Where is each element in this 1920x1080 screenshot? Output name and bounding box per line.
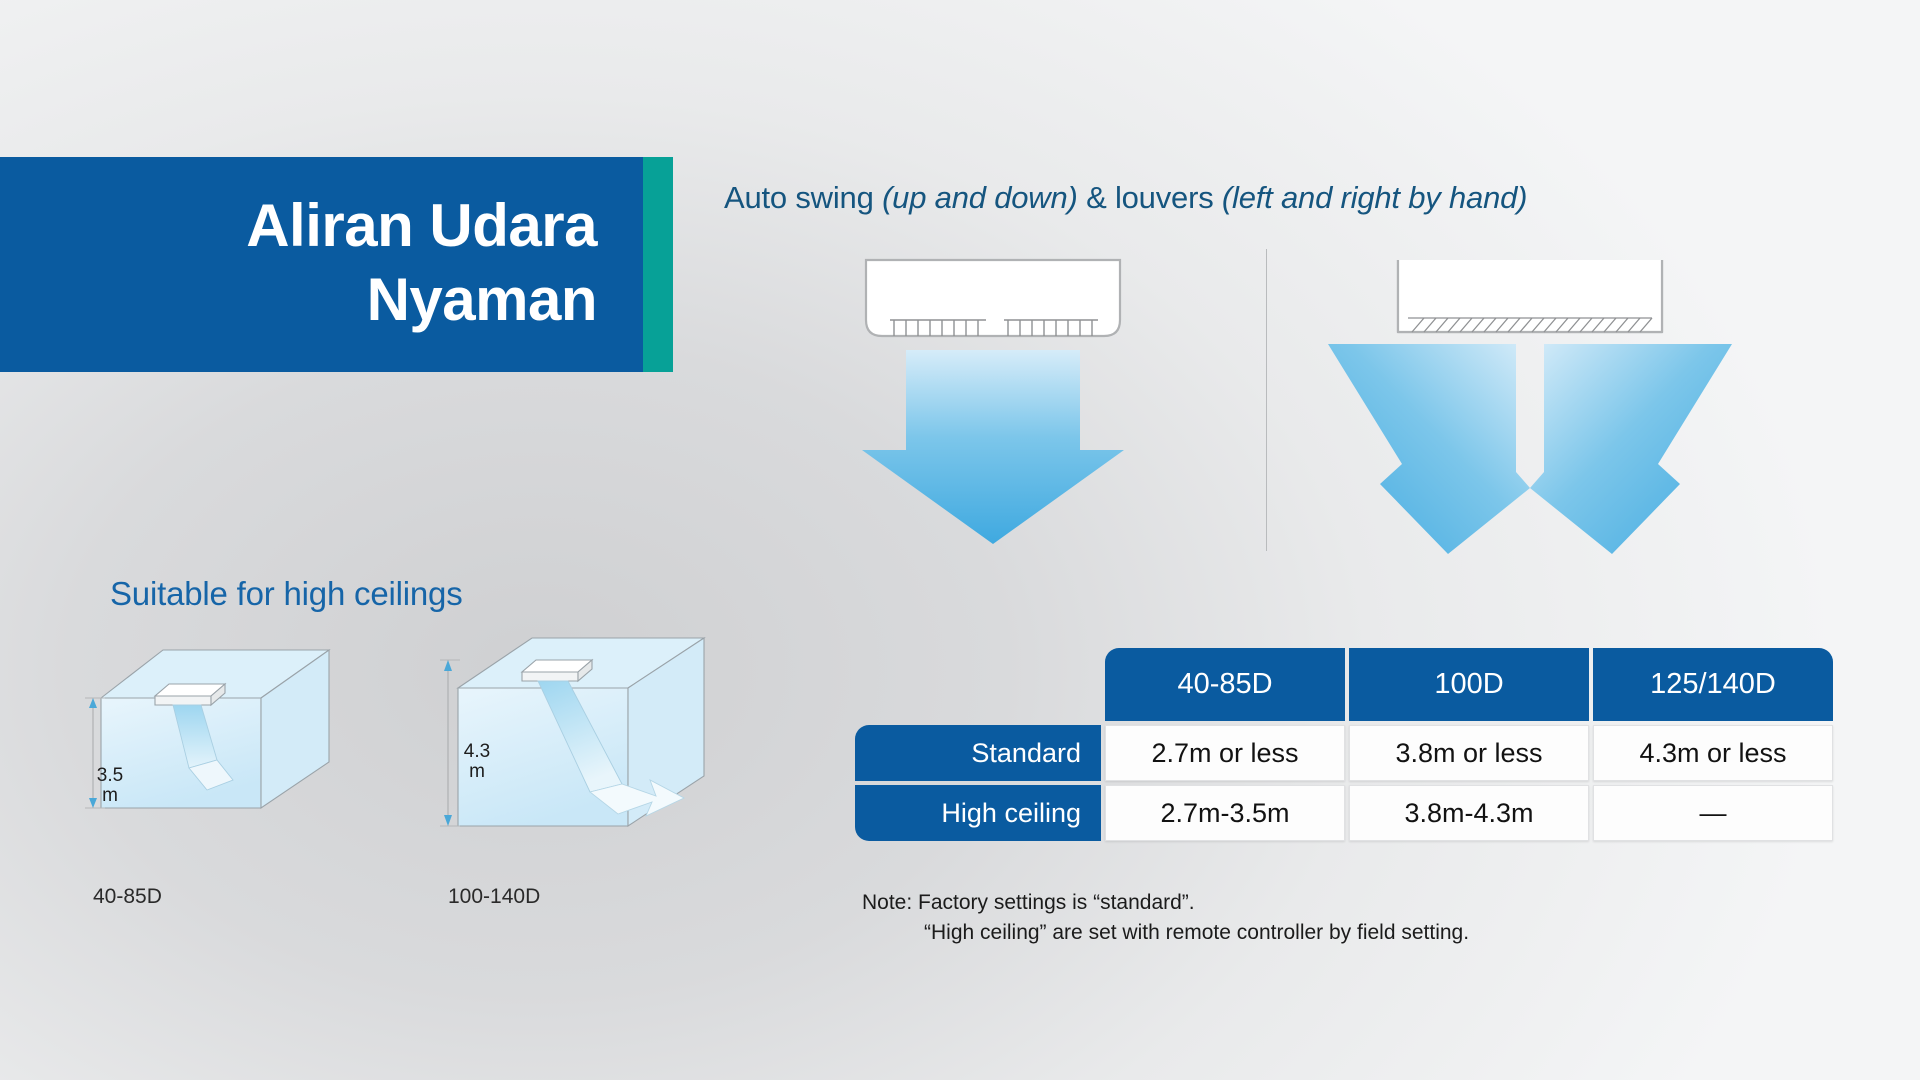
- table-corner-cell: [855, 648, 1101, 721]
- room-b-dimension-value: 4.3: [464, 741, 490, 762]
- swing-header: Auto swing (up and down) & louvers (left…: [724, 180, 1527, 216]
- ceiling-unit: [522, 660, 592, 681]
- title-line-1: Aliran Udara: [246, 189, 597, 263]
- right-arrow-icon: [1530, 344, 1732, 554]
- swing-header-part2: & louvers: [1078, 180, 1222, 215]
- room-b-dimension-label: 4.3 m: [455, 742, 499, 782]
- cell-high-ceiling-125-140d: —: [1593, 785, 1833, 841]
- room-diagram-40-85d: [85, 640, 385, 875]
- ceiling-height-table: 40-85D 100D 125/140D Standard 2.7m or le…: [855, 648, 1855, 841]
- slide-canvas: Aliran Udara Nyaman Auto swing (up and d…: [0, 0, 1920, 1080]
- cell-high-ceiling-40-85d: 2.7m-3.5m: [1105, 785, 1345, 841]
- title-banner: Aliran Udara Nyaman: [0, 157, 643, 372]
- airflow-split-panel: [1320, 258, 1740, 563]
- swing-header-italic1: (up and down): [882, 180, 1078, 215]
- room-b-dimension-unit: m: [469, 761, 485, 782]
- vertical-divider: [1266, 249, 1267, 551]
- room-a-dimension-unit: m: [102, 785, 118, 806]
- table-header-100d: 100D: [1349, 648, 1589, 721]
- row-label-high-ceiling: High ceiling: [855, 785, 1101, 841]
- room-a-dimension-value: 3.5: [97, 765, 123, 786]
- cell-standard-40-85d: 2.7m or less: [1105, 725, 1345, 781]
- swing-header-part1: Auto swing: [724, 180, 882, 215]
- table-row: Standard 2.7m or less 3.8m or less 4.3m …: [855, 725, 1855, 781]
- row-label-standard: Standard: [855, 725, 1101, 781]
- table-row: High ceiling 2.7m-3.5m 3.8m-4.3m —: [855, 785, 1855, 841]
- left-arrow-icon: [1328, 344, 1530, 554]
- room-b-caption: 100-140D: [448, 885, 540, 909]
- down-arrow-icon: [862, 350, 1124, 544]
- ceiling-unit: [155, 684, 225, 705]
- swing-header-italic2: (left and right by hand): [1222, 180, 1527, 215]
- title-accent-bar: [643, 157, 673, 372]
- note-line-2: “High ceiling” are set with remote contr…: [862, 918, 1469, 948]
- note-line-1: Note: Factory settings is “standard”.: [862, 888, 1469, 918]
- cell-standard-125-140d: 4.3m or less: [1593, 725, 1833, 781]
- table-header-125-140d: 125/140D: [1593, 648, 1833, 721]
- room-a-caption: 40-85D: [93, 885, 162, 909]
- cell-standard-100d: 3.8m or less: [1349, 725, 1589, 781]
- indoor-unit-body: [866, 260, 1120, 336]
- table-header-40-85d: 40-85D: [1105, 648, 1345, 721]
- cell-high-ceiling-100d: 3.8m-4.3m: [1349, 785, 1589, 841]
- table-header-row: 40-85D 100D 125/140D: [855, 648, 1855, 721]
- airflow-down-panel: [860, 258, 1200, 553]
- table-note: Note: Factory settings is “standard”. “H…: [862, 888, 1469, 949]
- title-block: Aliran Udara Nyaman: [0, 157, 673, 372]
- high-ceilings-subtitle: Suitable for high ceilings: [110, 575, 463, 613]
- title-line-2: Nyaman: [367, 263, 597, 337]
- room-a-dimension-label: 3.5 m: [88, 766, 132, 806]
